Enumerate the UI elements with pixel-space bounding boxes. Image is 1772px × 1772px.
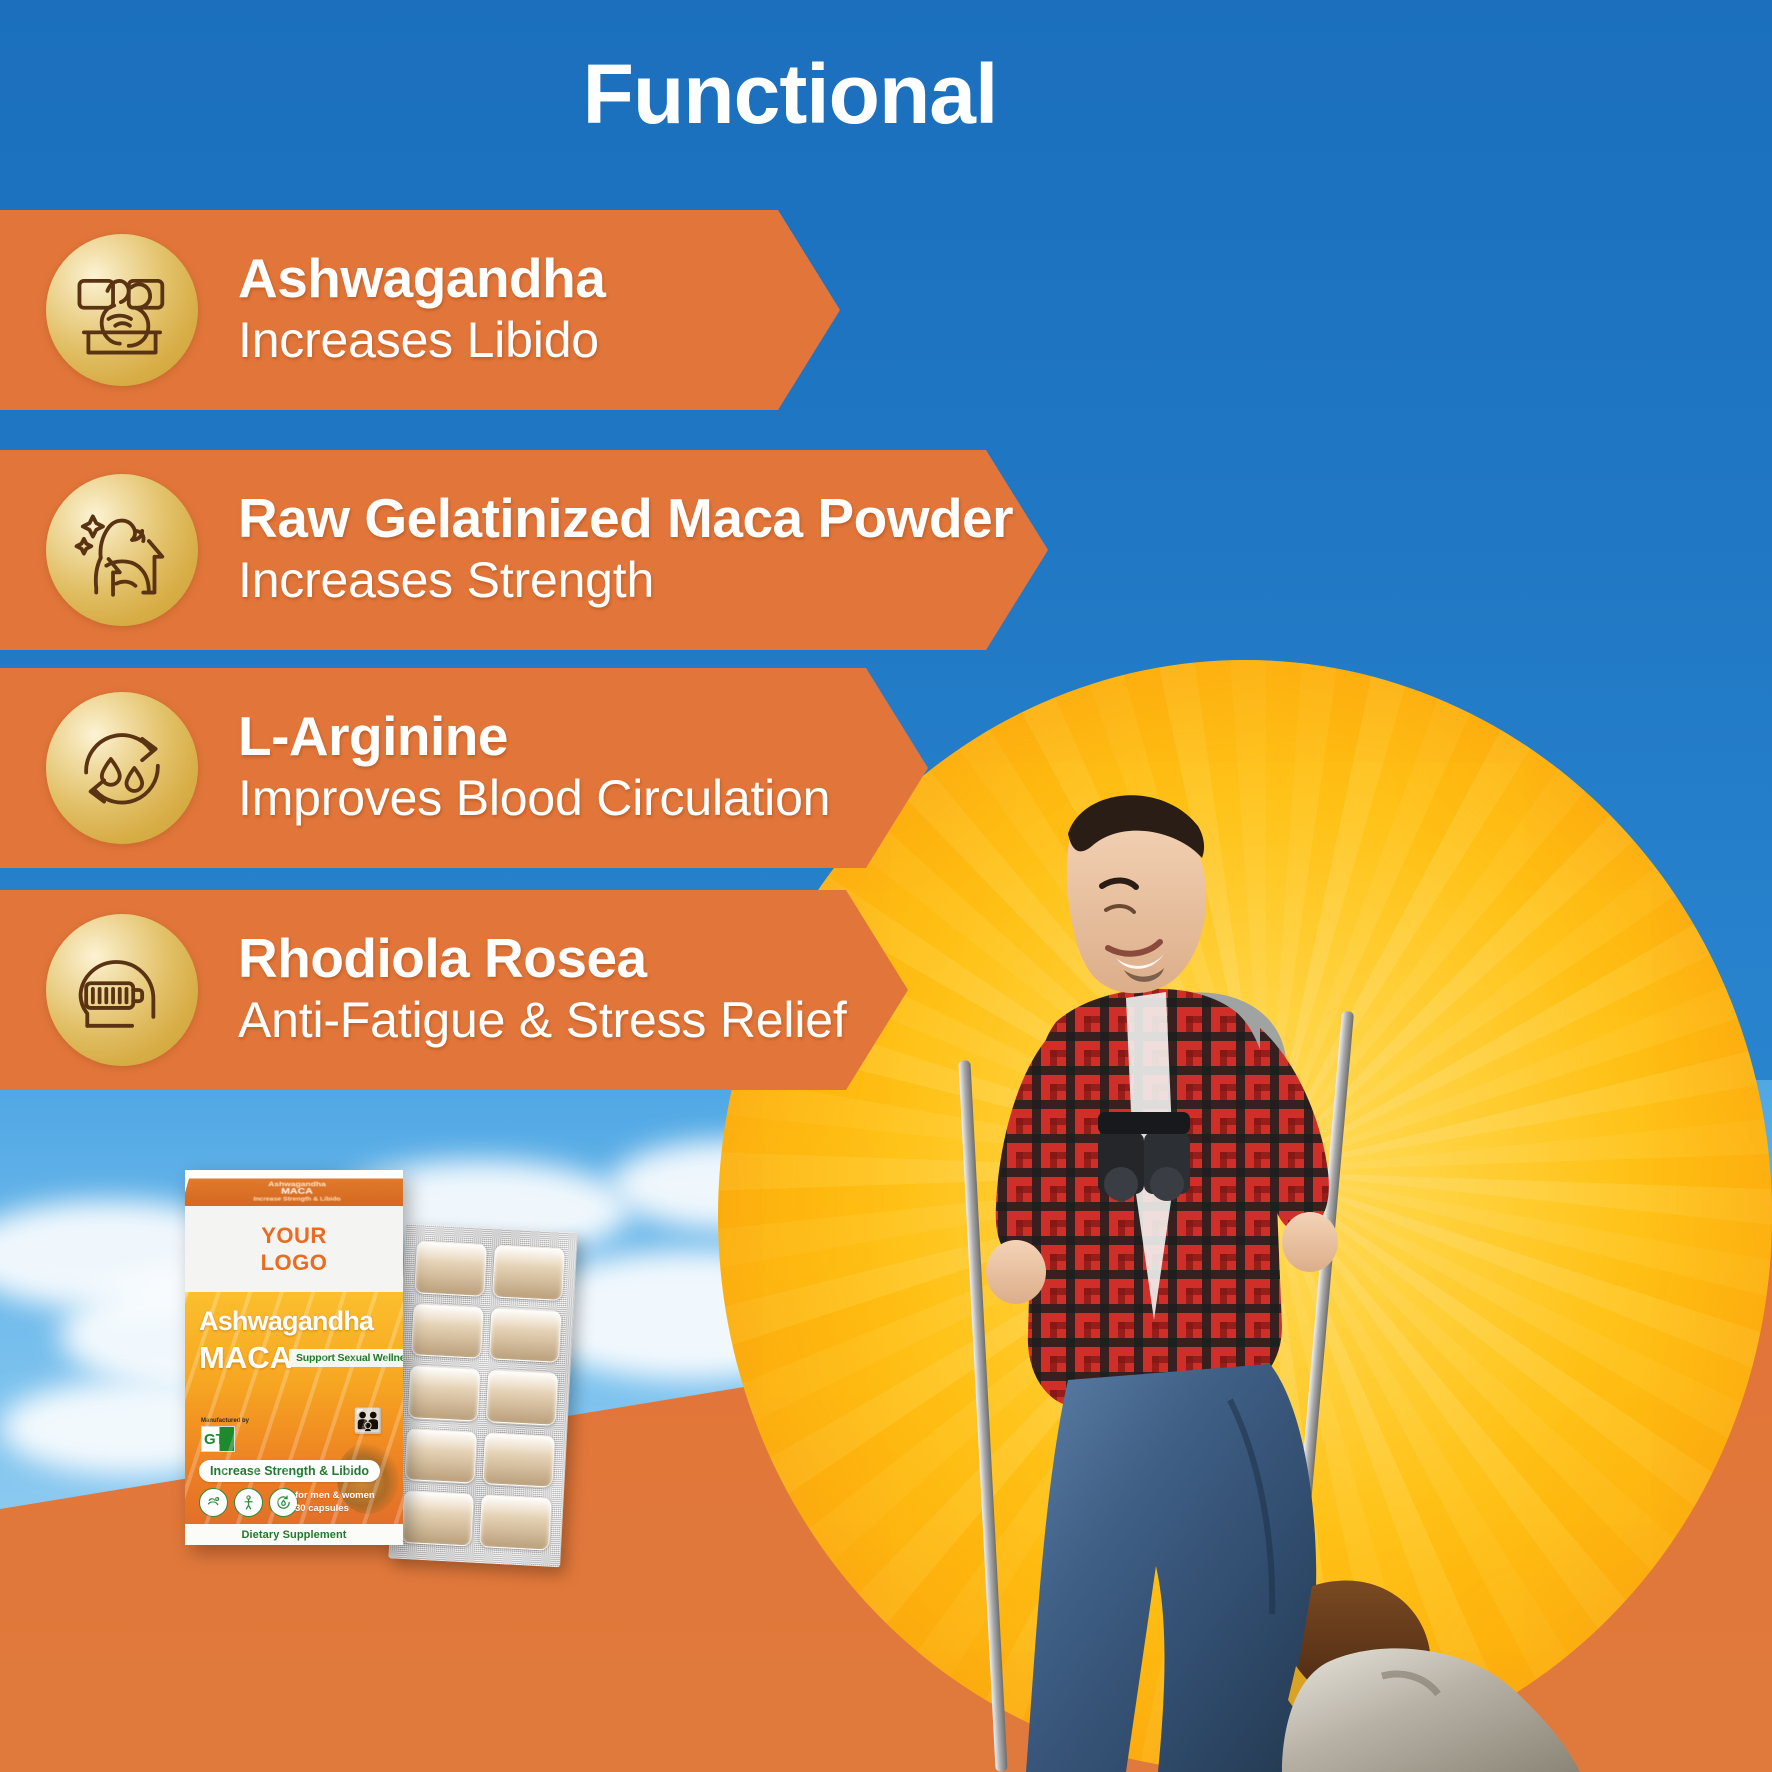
manufactured-by-label: Manufactured by bbox=[201, 1418, 249, 1424]
product-feature-icons bbox=[199, 1488, 298, 1517]
logo-line-2: LOGO bbox=[261, 1249, 328, 1277]
capsule bbox=[408, 1365, 481, 1421]
capsule bbox=[414, 1240, 487, 1296]
product-meta: for men & women 30 capsules bbox=[295, 1490, 375, 1516]
box-top-flap: Ashwagandha MACA Increase Strength & Lib… bbox=[185, 1178, 403, 1207]
couple-in-bed-icon bbox=[46, 234, 198, 386]
benefit-text-block: Ashwagandha Increases Libido bbox=[238, 250, 605, 369]
strength-icon bbox=[199, 1488, 228, 1517]
product-shot: Ashwagandha MACA Increase Strength & Lib… bbox=[175, 1128, 595, 1608]
blister-pack bbox=[388, 1224, 577, 1568]
product-count: 30 capsules bbox=[295, 1503, 375, 1516]
benefit-title: Rhodiola Rosea bbox=[238, 930, 847, 987]
circulation-icon bbox=[269, 1488, 298, 1517]
box-front-panel: Ashwagandha MACA Support Sexual Wellness… bbox=[185, 1292, 403, 1524]
capsule bbox=[411, 1303, 484, 1359]
head-battery-icon bbox=[46, 914, 198, 1066]
product-audience: for men & women bbox=[295, 1490, 375, 1503]
hiker-illustration bbox=[930, 760, 1630, 1772]
capsule bbox=[489, 1307, 562, 1363]
benefit-title: L-Arginine bbox=[238, 708, 830, 765]
head bbox=[1067, 795, 1206, 993]
flexed-bicep-arrow-icon bbox=[46, 474, 198, 626]
benefit-title: Raw Gelatinized Maca Powder bbox=[238, 490, 1013, 547]
capsule bbox=[479, 1494, 552, 1550]
product-tagline: Support Sexual Wellness bbox=[289, 1349, 403, 1367]
capsule bbox=[492, 1244, 565, 1300]
left-hand bbox=[986, 1240, 1046, 1304]
benefit-subtitle: Increases Strength bbox=[238, 554, 1013, 606]
right-hand bbox=[1282, 1212, 1338, 1272]
manufacturer-mark: GT bbox=[202, 1432, 225, 1447]
box-logo-panel: YOUR LOGO bbox=[185, 1206, 403, 1292]
benefit-text-block: Rhodiola Rosea Anti-Fatigue & Stress Rel… bbox=[238, 930, 847, 1049]
benefit-text-block: L-Arginine Improves Blood Circulation bbox=[238, 708, 830, 827]
dietary-supplement-label: Dietary Supplement bbox=[241, 1529, 346, 1541]
benefit-text-block: Raw Gelatinized Maca Powder Increases St… bbox=[238, 490, 1013, 609]
product-box: Ashwagandha MACA Increase Strength & Lib… bbox=[185, 1170, 403, 1545]
logo-line-1: YOUR bbox=[261, 1222, 327, 1250]
page-title: Functional bbox=[0, 52, 1580, 136]
benefit-banner-rhodiola[interactable]: Rhodiola Rosea Anti-Fatigue & Stress Rel… bbox=[0, 890, 908, 1090]
hiker-photo bbox=[930, 760, 1630, 1772]
benefit-subtitle: Improves Blood Circulation bbox=[238, 772, 830, 824]
vitality-icon bbox=[234, 1488, 263, 1517]
capsule bbox=[486, 1369, 559, 1425]
benefit-subtitle: Increases Libido bbox=[238, 314, 605, 366]
product-name-secondary: MACA bbox=[199, 1340, 292, 1376]
people-silhouette-icon: 👪 bbox=[353, 1410, 383, 1434]
infographic-canvas: Functional Ashwagandha Increases Libido bbox=[0, 0, 1772, 1772]
benefit-subtitle: Anti-Fatigue & Stress Relief bbox=[238, 994, 847, 1046]
benefit-banner-maca[interactable]: Raw Gelatinized Maca Powder Increases St… bbox=[0, 450, 1048, 650]
flap-text-block: Ashwagandha MACA Increase Strength & Lib… bbox=[185, 1181, 403, 1202]
flap-line-2: MACA bbox=[185, 1188, 403, 1197]
product-claim: Increase Strength & Libido bbox=[199, 1460, 380, 1482]
benefit-banner-ashwagandha[interactable]: Ashwagandha Increases Libido bbox=[0, 210, 840, 410]
manufacturer-logo: GT bbox=[201, 1426, 235, 1452]
rock bbox=[1282, 1648, 1580, 1772]
box-footer: Dietary Supplement bbox=[185, 1524, 403, 1545]
benefit-banner-l-arginine[interactable]: L-Arginine Improves Blood Circulation bbox=[0, 668, 928, 868]
benefit-title: Ashwagandha bbox=[238, 250, 605, 307]
blood-circulation-icon bbox=[46, 692, 198, 844]
flap-line-3: Increase Strength & Libido bbox=[185, 1197, 403, 1203]
capsule bbox=[404, 1428, 477, 1484]
product-name: Ashwagandha bbox=[199, 1306, 373, 1337]
capsule bbox=[482, 1432, 555, 1488]
capsule bbox=[401, 1490, 474, 1546]
